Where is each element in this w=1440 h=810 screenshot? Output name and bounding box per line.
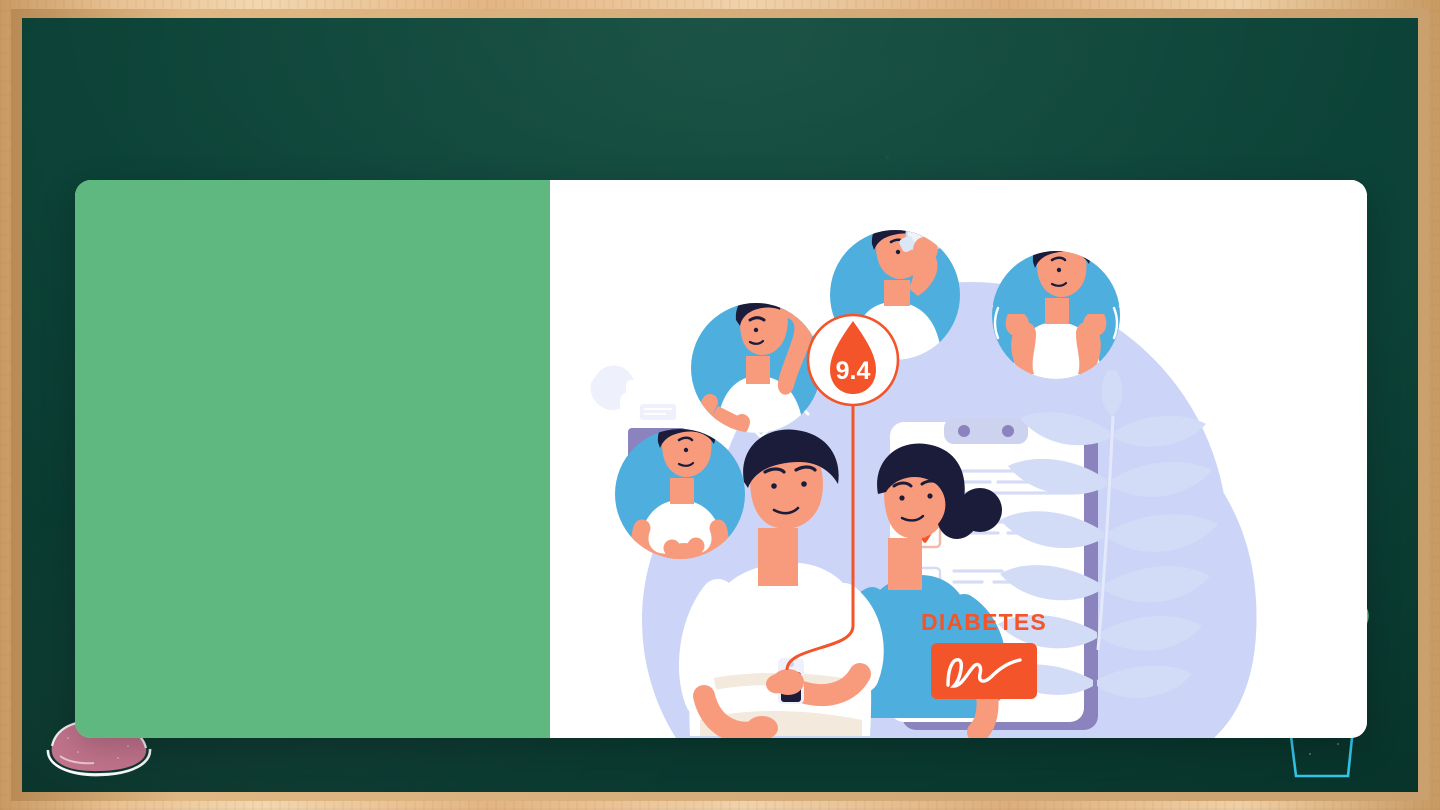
diabetes-illustration: 9.4 DIABETES: [550, 180, 1367, 738]
round-pill-outline-icon: [1175, 316, 1227, 368]
glucose-value: 9.4: [836, 357, 871, 385]
diabetes-label: DIABETES: [921, 609, 1047, 635]
slide-card[interactable]: 9.4 DIABETES: [75, 180, 1367, 738]
card-left-green-panel: [75, 180, 550, 738]
signature-box: [931, 643, 1037, 699]
slide-canvas: c: [0, 0, 1440, 810]
diabetes-brand-block: DIABETES: [921, 609, 1047, 699]
card-right-illustration-panel: 9.4 DIABETES: [550, 180, 1367, 738]
